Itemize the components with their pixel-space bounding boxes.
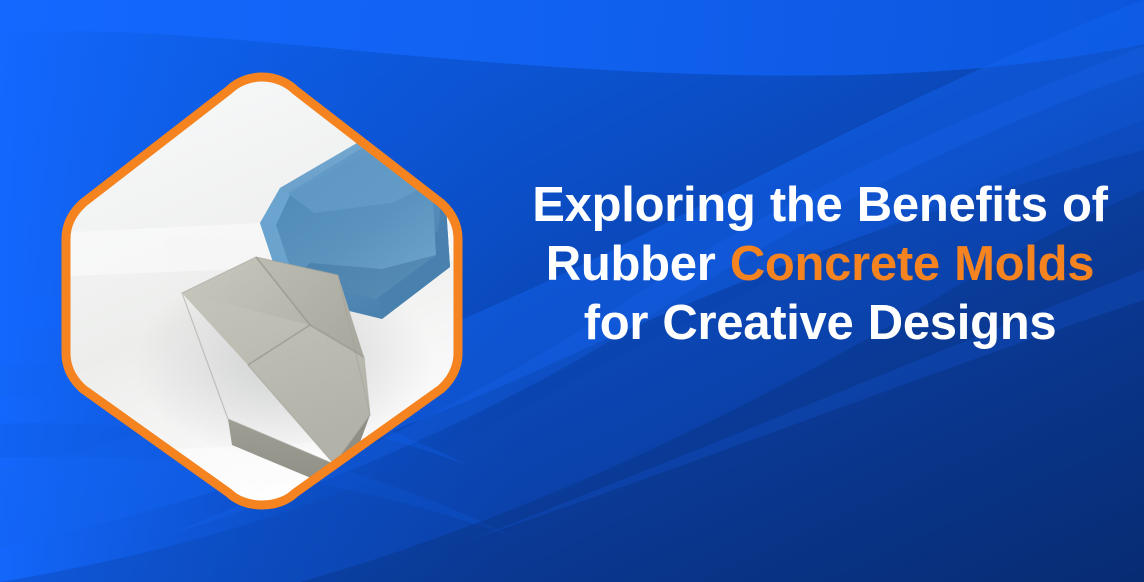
headline-line-1: Exploring the Benefits <box>532 178 1047 232</box>
headline-accent-concrete: Concrete <box>730 237 940 291</box>
headline-line-4: Designs <box>868 296 1057 350</box>
headline-line-3-plain: for Creative <box>584 296 854 350</box>
headline-accent-molds: Molds <box>954 237 1094 291</box>
hexagon-frame-icon <box>52 63 472 519</box>
hexagon-image-badge <box>52 63 472 519</box>
headline-block: Exploring the Benefits of Rubber Concret… <box>516 176 1124 353</box>
hexagon-photo-content <box>52 63 472 519</box>
page-title: Exploring the Benefits of Rubber Concret… <box>516 176 1124 353</box>
promo-banner: Exploring the Benefits of Rubber Concret… <box>0 0 1144 582</box>
